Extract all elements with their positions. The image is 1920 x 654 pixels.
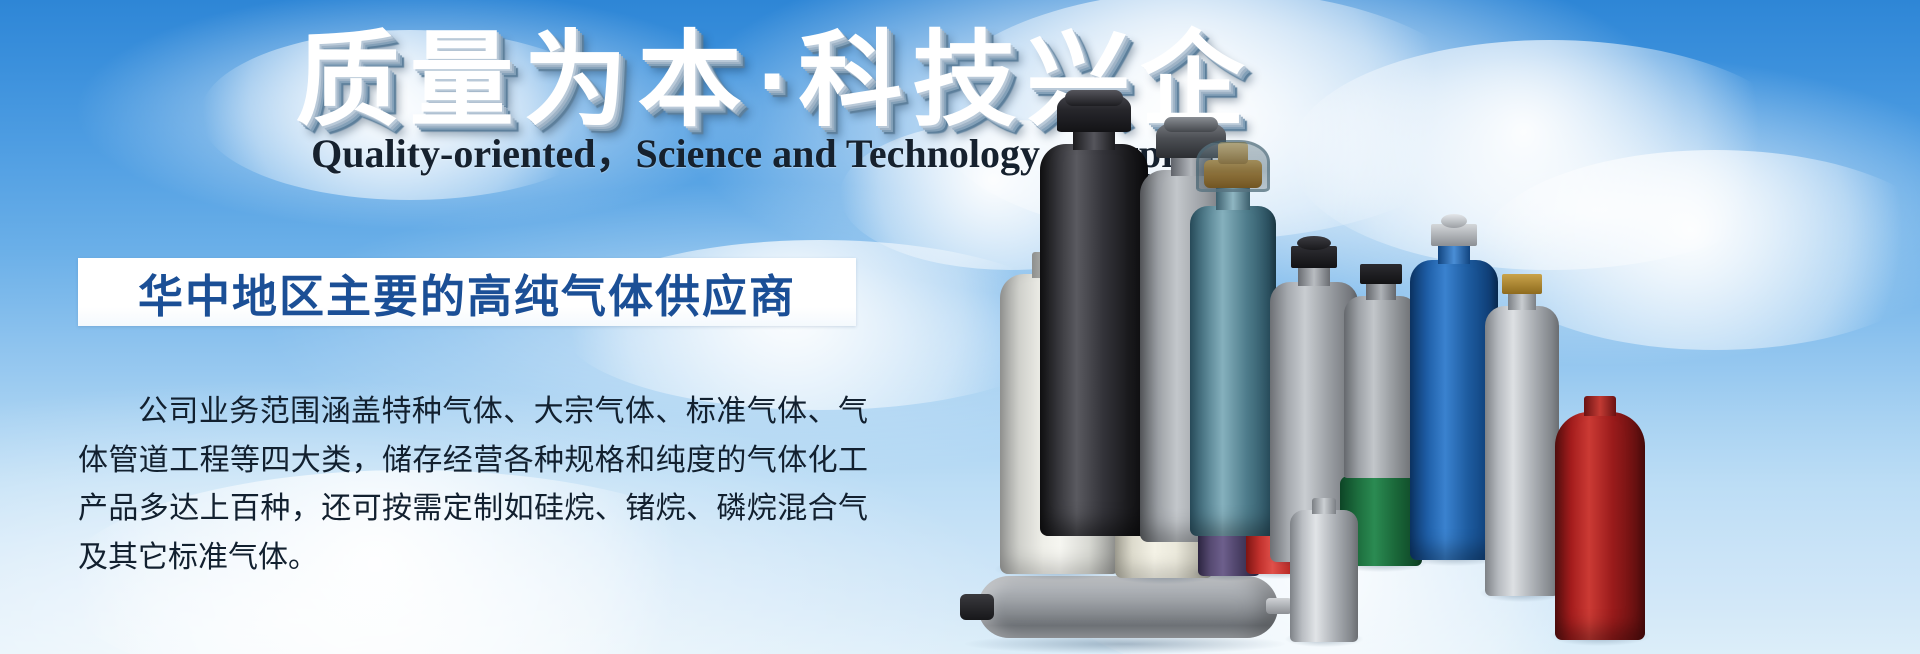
- cylinder-knob: [1441, 214, 1467, 228]
- black-large-cylinder: [1040, 106, 1148, 536]
- tagline-highlight-box: 华中地区主要的高纯气体供应商: [78, 258, 856, 326]
- gas-cylinder-photo-group: [940, 0, 1920, 654]
- company-intro-paragraph: 公司业务范围涵盖特种气体、大宗气体、标准气体、气体管道工程等四大类，储存经营各种…: [78, 388, 868, 582]
- tagline-text: 华中地区主要的高纯气体供应商: [138, 260, 796, 325]
- cylinder-guard-cap: [1196, 140, 1270, 192]
- aluminium-bottle-front: [1290, 492, 1358, 642]
- cylinder-valve: [1502, 274, 1542, 294]
- cylinder-knob: [1297, 236, 1331, 250]
- headline-separator: ·: [752, 23, 799, 139]
- cylinder-valve: [1360, 264, 1402, 284]
- horizontal-tank: [960, 570, 1290, 646]
- promo-banner: 质量为本·科技兴企 Quality-oriented，Science and T…: [0, 0, 1920, 654]
- teal-valve-cylinder: [1190, 136, 1276, 536]
- headline-left: 质量为本: [296, 23, 752, 139]
- dark-red-cylinder: [1555, 390, 1645, 640]
- aluminium-cylinder: [1485, 266, 1559, 596]
